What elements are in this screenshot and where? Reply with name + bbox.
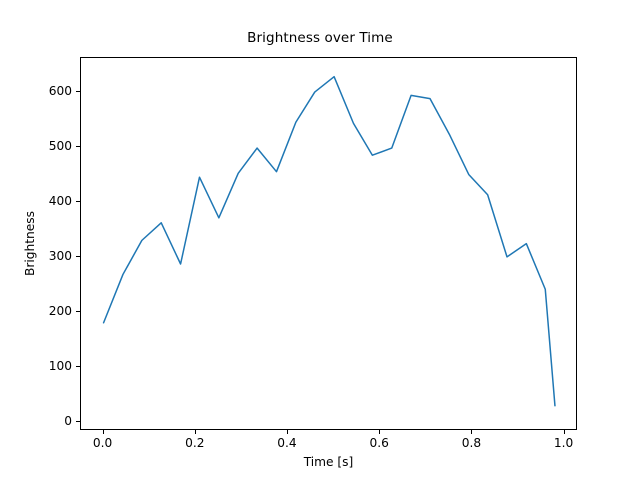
data-line-series [81,58,578,431]
y-tick-label: 500 [30,139,72,153]
x-tick-label: 0.0 [93,436,112,450]
x-tick-label: 0.6 [370,436,389,450]
y-tick-label: 0 [30,414,72,428]
x-axis-label: Time [s] [80,455,577,469]
y-tick-label: 200 [30,304,72,318]
plot-area [80,57,577,430]
matplotlib-figure: Brightness over Time Brightness Time [s]… [0,0,640,480]
x-tick-label: 1.0 [554,436,573,450]
x-tick-label: 0.2 [185,436,204,450]
x-tick-label: 0.8 [462,436,481,450]
y-tick-label: 300 [30,249,72,263]
y-axis-label: Brightness [23,57,37,430]
chart-title: Brightness over Time [0,30,640,46]
y-tick-label: 600 [30,84,72,98]
brightness-line [104,77,555,406]
y-tick-label: 100 [30,359,72,373]
x-tick-label: 0.4 [277,436,296,450]
y-tick-label: 400 [30,194,72,208]
